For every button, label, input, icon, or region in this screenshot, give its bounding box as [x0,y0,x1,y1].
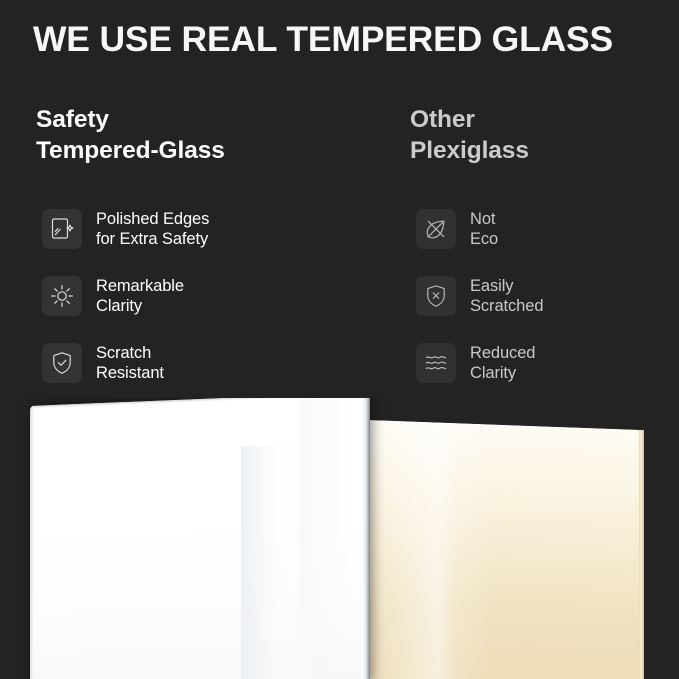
feature-easily-scratched-line2: Scratched [470,296,543,316]
glass-panel-left-bevel [30,406,34,679]
leaf-crossed-out-icon [416,209,456,249]
feature-remarkable-clarity-label: Remarkable Clarity [96,276,184,316]
glass-panel-reflection [241,443,329,679]
column-left-title-line1: Safety [36,106,109,133]
plexiglass-panel [366,420,644,679]
feature-scratch-resistant-line1: Scratch [96,344,151,362]
feature-polished-edges: Polished Edges for Extra Safety [42,208,209,250]
product-comparison-image [0,398,679,679]
feature-remarkable-clarity: Remarkable Clarity [42,275,184,317]
column-tempered-glass: Safety Tempered-Glass Polished Edges for… [36,104,376,166]
feature-reduced-clarity-line1: Reduced [470,344,535,362]
column-left-title: Safety Tempered-Glass [36,104,376,166]
shield-x-icon [416,276,456,316]
polished-edge-sparkle-icon [42,209,82,249]
glass-panel-top-bevel [30,398,370,411]
feature-not-eco-label: Not Eco [470,209,498,249]
feature-reduced-clarity-line2: Clarity [470,363,535,383]
feature-polished-edges-line1: Polished Edges [96,210,209,228]
feature-reduced-clarity: Reduced Clarity [416,342,535,384]
feature-scratch-resistant-label: Scratch Resistant [96,343,164,383]
wavy-lines-icon [416,343,456,383]
feature-not-eco-line2: Eco [470,229,498,249]
column-left-title-line2: Tempered-Glass [36,135,376,166]
feature-not-eco-line1: Not [470,210,495,228]
feature-scratch-resistant: Scratch Resistant [42,342,164,384]
page-title: WE USE REAL TEMPERED GLASS [33,19,653,59]
feature-scratch-resistant-line2: Resistant [96,363,164,383]
feature-polished-edges-label: Polished Edges for Extra Safety [96,209,209,249]
column-right-title-line1: Other [410,106,475,133]
column-plexiglass: Other Plexiglass Not Eco [410,104,675,166]
feature-remarkable-clarity-line2: Clarity [96,296,184,316]
feature-not-eco: Not Eco [416,208,498,250]
column-right-title-line2: Plexiglass [410,135,675,166]
feature-easily-scratched-line1: Easily [470,277,513,295]
feature-easily-scratched-label: Easily Scratched [470,276,543,316]
feature-easily-scratched: Easily Scratched [416,275,543,317]
feature-reduced-clarity-label: Reduced Clarity [470,343,535,383]
feature-remarkable-clarity-line1: Remarkable [96,277,184,295]
glass-panel-right-edge [361,398,370,679]
plexiglass-panel-right-edge [639,430,644,679]
feature-polished-edges-line2: for Extra Safety [96,229,209,249]
column-right-title: Other Plexiglass [410,104,675,166]
brightness-sun-icon [42,276,82,316]
comparison-infographic: WE USE REAL TEMPERED GLASS Safety Temper… [0,0,679,679]
plexiglass-panel-top-edge [366,420,644,433]
shield-check-icon [42,343,82,383]
tempered-glass-panel [30,398,370,679]
